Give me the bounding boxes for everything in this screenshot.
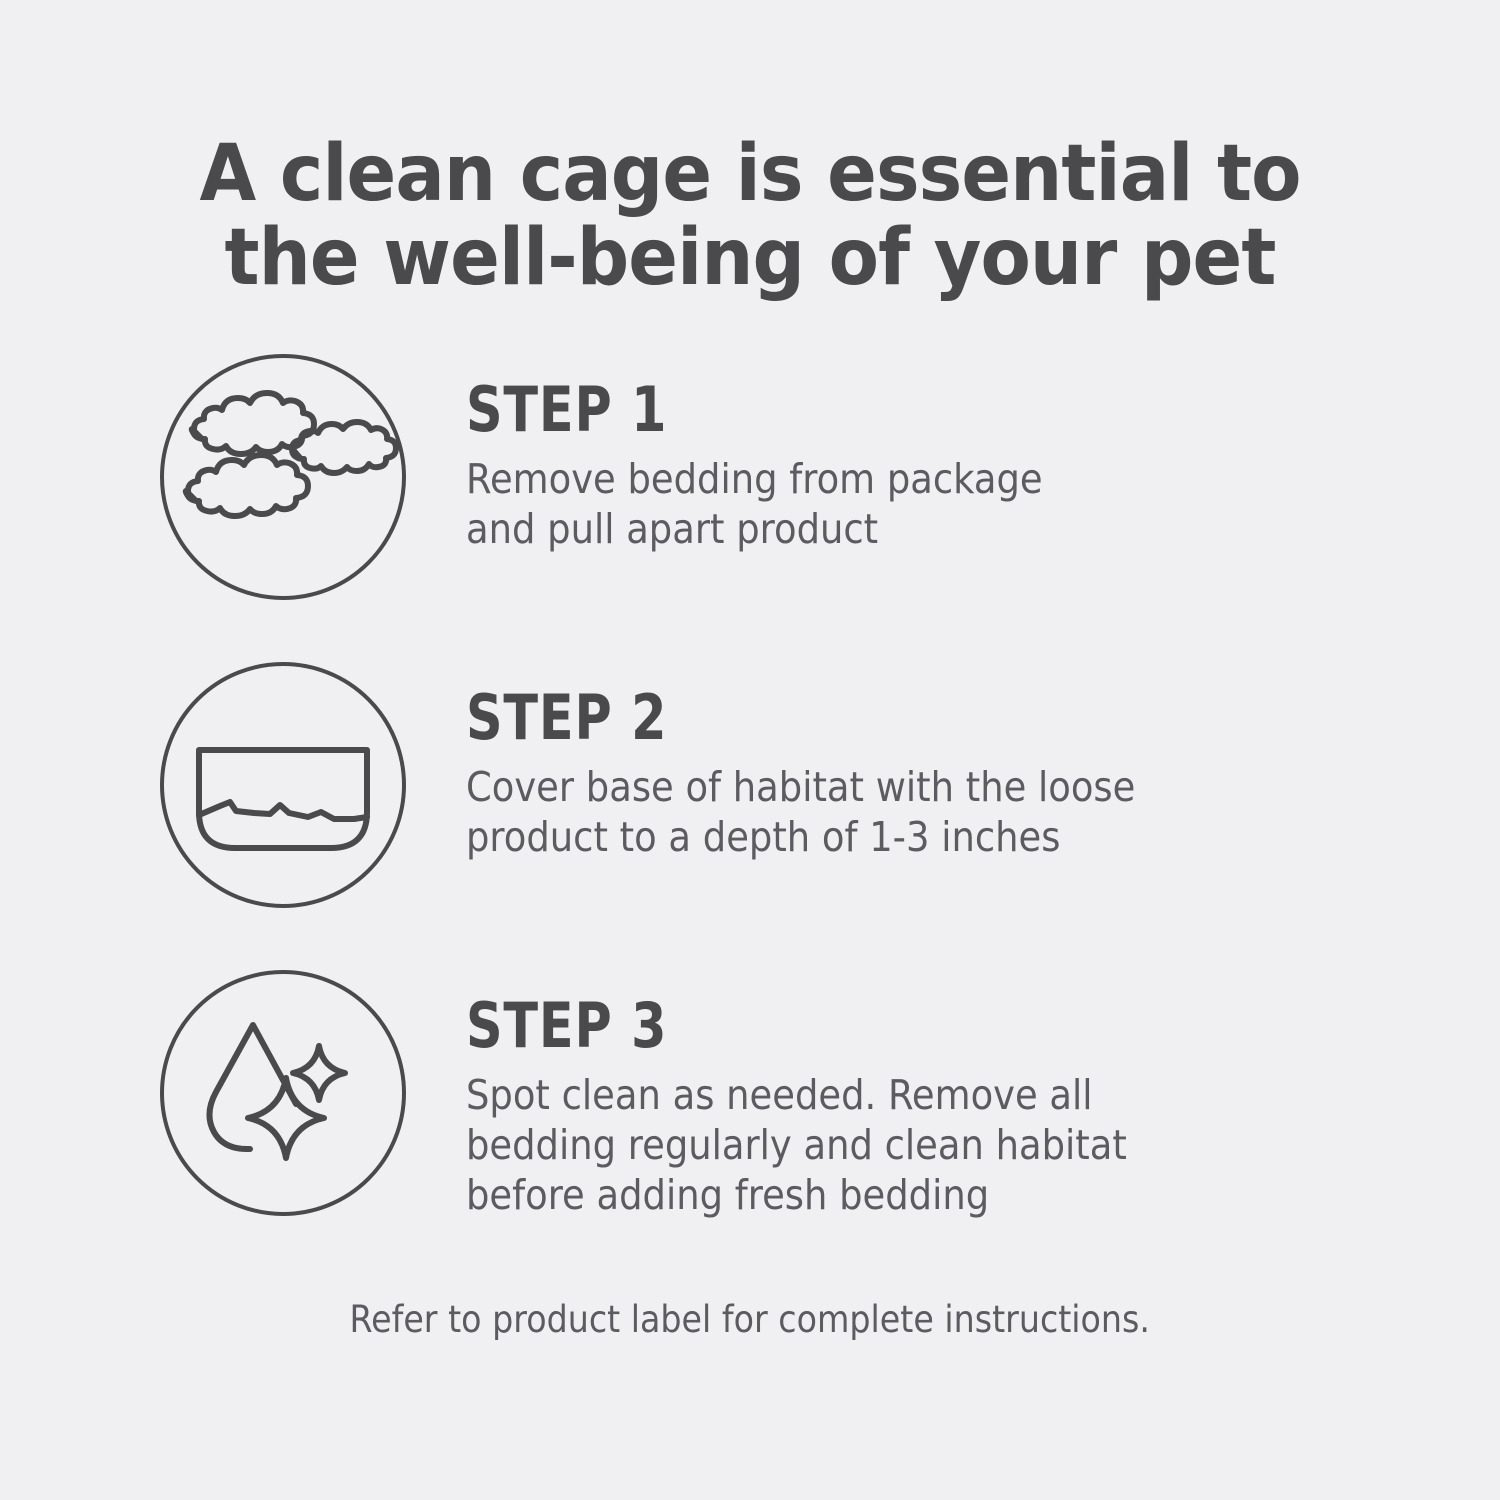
step-body-line: product to a depth of 1-3 inches xyxy=(466,812,1384,862)
step-body-line: Remove bedding from package xyxy=(466,454,1384,504)
step-body-line: before adding fresh bedding xyxy=(466,1170,1384,1220)
habitat-base-icon xyxy=(158,660,408,910)
step-text-3: STEP 3 Spot clean as needed. Remove all … xyxy=(408,968,1500,1220)
step-heading-2: STEP 2 xyxy=(466,686,1314,750)
bedding-clouds-icon xyxy=(158,352,408,602)
infographic-page: A clean cage is essential to the well-be… xyxy=(0,0,1500,1500)
droplet-sparkle-icon xyxy=(158,968,408,1218)
step-body-line: Cover base of habitat with the loose xyxy=(466,762,1384,812)
step-body-3: Spot clean as needed. Remove all bedding… xyxy=(466,1070,1384,1220)
step-body-1: Remove bedding from package and pull apa… xyxy=(466,454,1384,554)
step-body-line: Spot clean as needed. Remove all xyxy=(466,1070,1384,1120)
footer-note-text: Refer to product label for complete inst… xyxy=(350,1298,1151,1342)
footer-note: Refer to product label for complete inst… xyxy=(0,1298,1500,1342)
step-body-line: bedding regularly and clean habitat xyxy=(466,1120,1384,1170)
step-body-2: Cover base of habitat with the loose pro… xyxy=(466,762,1384,862)
steps-list: STEP 1 Remove bedding from package and p… xyxy=(0,352,1500,1278)
step-text-1: STEP 1 Remove bedding from package and p… xyxy=(408,352,1500,554)
step-body-line: and pull apart product xyxy=(466,504,1384,554)
step-heading-1: STEP 1 xyxy=(466,378,1314,442)
title-line-1: A clean cage is essential to xyxy=(45,132,1455,216)
step-item-2: STEP 2 Cover base of habitat with the lo… xyxy=(0,660,1500,910)
step-item-3: STEP 3 Spot clean as needed. Remove all … xyxy=(0,968,1500,1220)
step-item-1: STEP 1 Remove bedding from package and p… xyxy=(0,352,1500,602)
step-text-2: STEP 2 Cover base of habitat with the lo… xyxy=(408,660,1500,862)
step-heading-3: STEP 3 xyxy=(466,994,1314,1058)
title-line-2: the well-being of your pet xyxy=(45,216,1455,300)
page-title: A clean cage is essential to the well-be… xyxy=(0,132,1500,300)
